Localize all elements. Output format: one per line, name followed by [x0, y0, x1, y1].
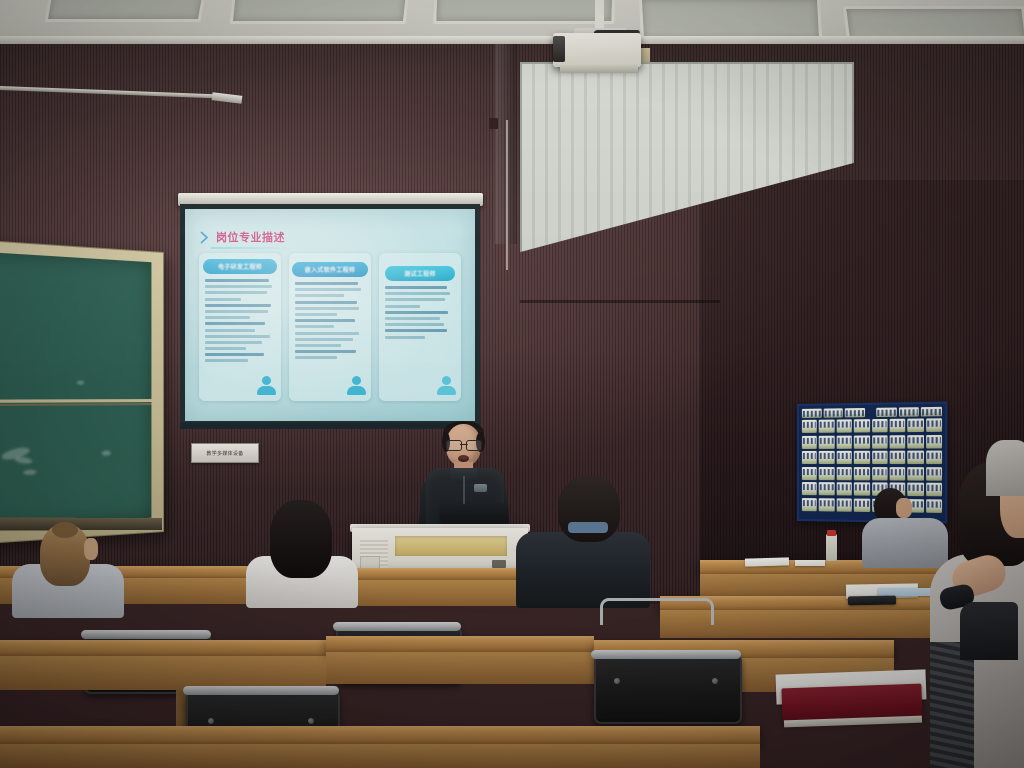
desk-row-front-mid [326, 636, 594, 652]
paper-sheet [745, 557, 789, 566]
slide-card: 测试工程师 [379, 253, 461, 401]
card-header-label: 电子研发工程师 [218, 262, 262, 271]
chalk-mark [77, 381, 84, 385]
slide-title-underline [211, 247, 295, 249]
card-header-label: 嵌入式软件工程师 [305, 265, 355, 274]
lectern-wood-panel [395, 536, 507, 556]
card-body [199, 274, 281, 362]
avatar [437, 376, 456, 397]
desk-front [0, 656, 326, 690]
student-center [516, 476, 650, 606]
jacket [516, 532, 650, 608]
slide-title: 岗位专业描述 [216, 229, 285, 245]
lecture-hall-photo: 岗位专业描述 电子研发工程师 [0, 0, 1024, 768]
card-body [379, 281, 461, 339]
face [896, 498, 912, 518]
ceiling-panel [230, 0, 411, 24]
lectern-logo [492, 560, 506, 568]
card-header-label: 测试工程师 [404, 269, 436, 278]
slide-card: 嵌入式软件工程师 [289, 253, 371, 401]
desk-row-front-left [0, 640, 326, 656]
ceiling-projector [553, 33, 641, 67]
hair [270, 500, 332, 578]
wall-socket [489, 118, 498, 129]
attendee-edge [986, 440, 1024, 560]
ear-area [84, 538, 98, 560]
slide-title-row: 岗位专业描述 [199, 229, 285, 245]
desk-front [326, 652, 594, 684]
smartphone [848, 596, 896, 606]
wall-seam [520, 300, 720, 303]
jacket-logo [474, 484, 487, 492]
chair[interactable] [594, 654, 738, 720]
projection-screen: 岗位专业描述 电子研发工程师 [185, 209, 475, 421]
chalkboard [0, 239, 164, 545]
desk-front [0, 744, 760, 768]
card-header: 嵌入式软件工程师 [292, 262, 368, 277]
sign-label: 教学多媒体设备 [206, 450, 243, 457]
chalkboard-surface [0, 251, 151, 528]
collar [568, 522, 608, 533]
striped-scarf [930, 642, 974, 768]
dark-collar [960, 602, 1018, 660]
mouth [458, 455, 469, 462]
ceiling-panel [44, 0, 207, 22]
ceiling-panel [433, 0, 616, 24]
paper-sheet [795, 560, 825, 566]
student-left [246, 500, 358, 604]
wall-cable [506, 120, 508, 270]
water-bottle [826, 534, 837, 561]
hair-top [52, 522, 78, 538]
slide-cards: 电子研发工程师 [199, 253, 463, 401]
avatar [347, 376, 366, 397]
glasses-icon [446, 440, 482, 449]
card-header: 测试工程师 [385, 266, 455, 281]
projector-base [560, 64, 638, 73]
card-body [289, 277, 371, 359]
chevron-right-icon [199, 231, 211, 244]
card-header: 电子研发工程师 [203, 259, 277, 274]
bottle-cap [827, 530, 836, 536]
chair[interactable] [600, 598, 708, 646]
desk-row-foreground [0, 726, 760, 744]
slide: 岗位专业描述 电子研发工程师 [185, 209, 475, 421]
student-front-left [12, 524, 124, 610]
avatar [257, 376, 276, 397]
projector-lens-icon [553, 36, 565, 62]
slide-card: 电子研发工程师 [199, 253, 281, 401]
screen-caption-sign: 教学多媒体设备 [191, 443, 259, 463]
hood [986, 440, 1024, 496]
